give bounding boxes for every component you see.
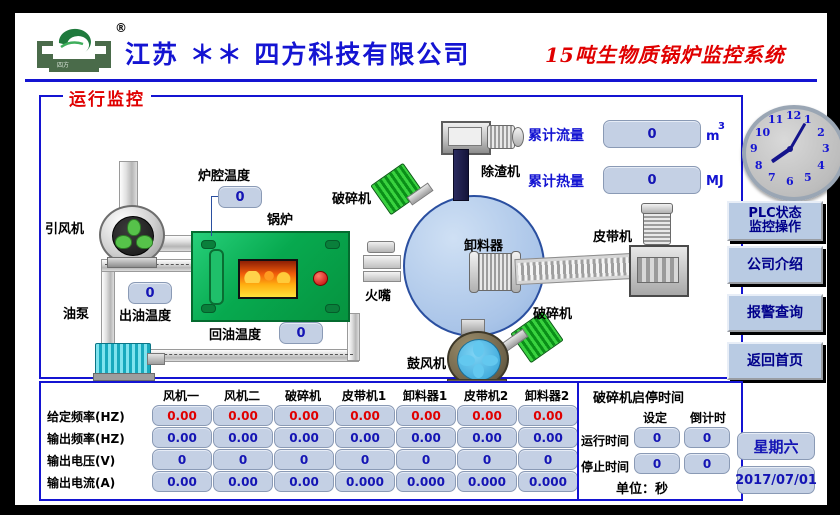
table-cell[interactable]: 0	[152, 449, 212, 470]
weekday-display: 星期六	[737, 432, 815, 460]
company-name: 江苏 ＊＊ 四方科技有限公司	[125, 35, 470, 71]
belt-conveyor-motor	[643, 209, 671, 245]
table-column-header: 破碎机	[274, 387, 332, 404]
clock-number: 6	[786, 175, 794, 188]
table-cell[interactable]: 0.000	[396, 471, 456, 492]
boiler-bolt	[201, 304, 216, 313]
table-column-header: 风机一	[152, 387, 210, 404]
label-cumulative-flow: 累计流量	[528, 125, 584, 145]
registered-mark: ®	[115, 21, 127, 35]
slag-remover-window	[448, 127, 482, 146]
discharger-rotor	[475, 253, 515, 291]
label-furnace-temp: 炉腔温度	[198, 165, 250, 184]
cumulative-flow-unit-sup: 3	[718, 121, 725, 132]
sight-glass-icon	[209, 249, 224, 305]
monitor-legend: 运行监控	[63, 85, 151, 110]
boiler-bolt	[201, 240, 216, 249]
label-oil-pump: 油泵	[63, 303, 89, 322]
clock-number: 8	[755, 159, 763, 172]
burner-body	[363, 255, 401, 269]
boiler-vessel	[191, 231, 350, 322]
belt-conveyor-motor-cap	[641, 203, 673, 214]
clock-number: 3	[822, 142, 830, 155]
table-cell[interactable]: 0.00	[396, 427, 456, 448]
table-cell[interactable]: 0.00	[457, 405, 517, 426]
table-cell[interactable]: 0.00	[396, 405, 456, 426]
fan-hub	[112, 216, 154, 256]
slag-remover-motor-cap	[512, 127, 524, 147]
clock-number: 5	[804, 171, 812, 184]
crusher-stop-time-countdown: 0	[684, 453, 730, 474]
table-cell[interactable]: 0.000	[518, 471, 578, 492]
table-cell[interactable]: 0.00	[274, 405, 334, 426]
hmi-screen: 四方 ® 江苏 ＊＊ 四方科技有限公司 15吨生物质锅炉监控系统 运行监控 引风…	[0, 0, 840, 515]
crusher-time-col-set: 设定	[643, 409, 667, 426]
table-column-header: 卸料器1	[396, 387, 454, 404]
table-cell[interactable]: 0.000	[457, 471, 517, 492]
label-induced-draft-fan: 引风机	[45, 218, 84, 237]
clock-number: 4	[817, 159, 825, 172]
boiler-bolt	[325, 240, 340, 249]
table-cell[interactable]: 0.000	[335, 471, 395, 492]
header-bar: 四方 ® 江苏 ＊＊ 四方科技有限公司 15吨生物质锅炉监控系统	[15, 13, 827, 80]
company-logo-icon: 四方	[31, 23, 117, 73]
clock-number: 2	[817, 126, 825, 139]
clock-number: 7	[768, 171, 776, 184]
belt-conveyor-chevrons	[637, 257, 679, 283]
table-column-header: 卸料器2	[518, 387, 576, 404]
crusher-time-col-countdown: 倒计时	[690, 409, 726, 426]
label-boiler: 锅炉	[267, 209, 293, 228]
label-oil-out-temp: 出油温度	[119, 305, 171, 324]
slag-chute	[453, 149, 469, 201]
clock-number: 10	[755, 126, 770, 139]
plc-status-button[interactable]: PLC状态 监控操作	[727, 201, 823, 241]
table-cell[interactable]: 0.00	[213, 427, 273, 448]
crusher-stop-time-label: 停止时间	[581, 458, 629, 475]
table-row-label: 输出电流(A)	[47, 474, 115, 491]
main-panel: 四方 ® 江苏 ＊＊ 四方科技有限公司 15吨生物质锅炉监控系统 运行监控 引风…	[14, 12, 828, 506]
crusher-stop-time-set: 0	[634, 453, 680, 474]
oil-pump-base	[93, 373, 155, 381]
system-title: 15吨生物质锅炉监控系统	[545, 39, 785, 68]
return-home-button[interactable]: 返回首页	[727, 342, 823, 380]
table-cell[interactable]: 0	[518, 449, 578, 470]
induced-draft-fan-icon	[99, 205, 165, 265]
clock-number: 12	[786, 109, 801, 122]
blower-hub	[457, 339, 501, 381]
crusher-time-unit-note: 单位：秒	[616, 478, 668, 497]
crusher-run-time-countdown: 0	[684, 427, 730, 448]
header-divider	[25, 79, 817, 82]
company-intro-button[interactable]: 公司介绍	[727, 246, 823, 284]
table-row-label: 给定频率(HZ)	[47, 408, 125, 425]
table-column-header: 风机二	[213, 387, 271, 404]
table-cell[interactable]: 0.00	[518, 405, 578, 426]
label-burner-nozzle: 火嘴	[365, 285, 391, 304]
boiler-indicator-lamp	[313, 271, 328, 286]
table-cell[interactable]: 0.00	[152, 427, 212, 448]
table-cell[interactable]: 0.00	[274, 471, 334, 492]
label-cumulative-heat: 累计热量	[528, 171, 584, 191]
oil-pump-motor-shaft	[147, 353, 165, 365]
company-intro-button-label: 公司介绍	[747, 258, 803, 273]
table-row-label: 输出频率(HZ)	[47, 430, 125, 447]
table-column-header: 皮带机2	[457, 387, 515, 404]
return-home-button-label: 返回首页	[747, 354, 803, 369]
cumulative-flow-value: 0	[603, 120, 701, 148]
slag-remover-motor	[487, 125, 515, 149]
clock-number: 11	[768, 113, 783, 126]
table-column-header: 皮带机1	[335, 387, 393, 404]
oil-pump-icon	[95, 343, 151, 377]
burner-pipe	[363, 271, 401, 282]
alarm-query-button-label: 报警查询	[747, 306, 803, 321]
date-display: 2017/07/01	[737, 466, 815, 494]
plc-status-button-line2: 监控操作	[749, 221, 801, 235]
label-discharger: 卸料器	[464, 235, 503, 254]
table-cell[interactable]: 0.00	[518, 427, 578, 448]
label-belt-conveyor: 皮带机	[593, 226, 632, 245]
furnace-temp-leader	[211, 196, 212, 236]
table-cell[interactable]: 0	[274, 449, 334, 470]
oil-riser-pipe	[101, 259, 115, 353]
label-crusher-bottom: 破碎机	[533, 303, 572, 322]
fan-base	[107, 257, 157, 268]
boiler-bolt	[325, 304, 340, 313]
furnace-temp-value: 0	[218, 186, 262, 208]
cumulative-heat-value: 0	[603, 166, 701, 194]
analog-clock: 121234567891011	[742, 105, 838, 193]
crusher-run-time-set: 0	[634, 427, 680, 448]
table-cell[interactable]: 0.00	[213, 405, 273, 426]
cumulative-heat-unit: MJ	[706, 174, 724, 189]
table-cell[interactable]: 0.00	[274, 427, 334, 448]
oil-return-temp-value: 0	[279, 322, 323, 344]
table-cell[interactable]: 0	[457, 449, 517, 470]
crusher-time-title: 破碎机启停时间	[593, 387, 684, 406]
clock-center-hub	[787, 146, 793, 152]
table-row-label: 输出电压(V)	[47, 452, 115, 469]
table-cell[interactable]: 0.00	[335, 427, 395, 448]
label-slag-remover: 除渣机	[481, 161, 520, 180]
label-crusher-top: 破碎机	[332, 188, 371, 207]
table-cell[interactable]: 0.00	[152, 405, 212, 426]
clock-number: 9	[750, 142, 758, 155]
flame-view-window	[238, 259, 298, 299]
discharger-cap-left	[469, 251, 479, 293]
oil-out-temp-value: 0	[128, 282, 172, 304]
alarm-query-button[interactable]: 报警查询	[727, 294, 823, 332]
table-cell[interactable]: 0	[335, 449, 395, 470]
table-cell[interactable]: 0	[396, 449, 456, 470]
label-blower: 鼓风机	[407, 353, 446, 372]
table-cell[interactable]: 0.00	[335, 405, 395, 426]
label-oil-return-temp: 回油温度	[209, 324, 261, 343]
plc-status-button-line1: PLC状态	[748, 207, 801, 221]
burner-nozzle-icon	[367, 241, 395, 253]
table-cell[interactable]: 0.00	[152, 471, 212, 492]
table-cell[interactable]: 0.00	[213, 471, 273, 492]
table-cell[interactable]: 0.00	[457, 427, 517, 448]
svg-text:四方: 四方	[57, 61, 69, 69]
crusher-run-time-label: 运行时间	[581, 432, 629, 449]
table-cell[interactable]: 0	[213, 449, 273, 470]
